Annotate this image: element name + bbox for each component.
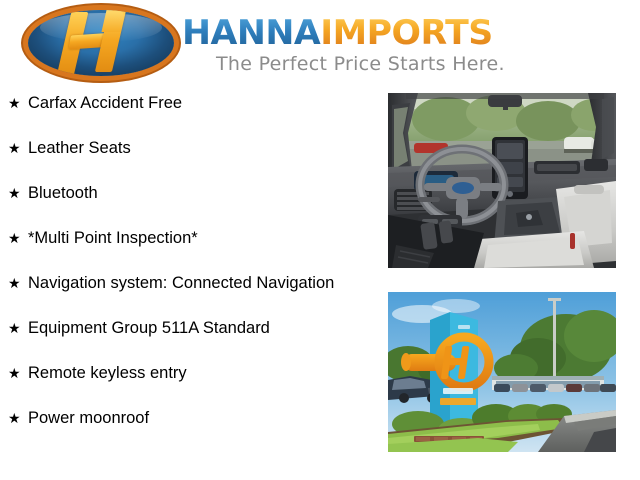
star-bullet-icon: ★	[8, 92, 28, 114]
wordmark-hanna: HANNA	[182, 13, 320, 53]
logo-oval-shape	[28, 10, 174, 76]
feature-label: *Multi Point Inspection*	[28, 227, 198, 249]
list-item: ★ *Multi Point Inspection*	[0, 227, 380, 249]
vehicle-interior-photo	[388, 93, 616, 268]
feature-label: Leather Seats	[28, 137, 131, 159]
list-item: ★ Carfax Accident Free	[0, 92, 380, 114]
list-item: ★ Remote keyless entry	[0, 362, 380, 384]
wordmark-imports: IMPORTS	[320, 13, 493, 53]
star-bullet-icon: ★	[8, 137, 28, 159]
star-bullet-icon: ★	[8, 182, 28, 204]
feature-label: Navigation system: Connected Navigation	[28, 272, 334, 294]
logo-h-hook	[101, 10, 125, 32]
star-bullet-icon: ★	[8, 407, 28, 429]
star-bullet-icon: ★	[8, 227, 28, 249]
star-bullet-icon: ★	[8, 317, 28, 339]
feature-label: Carfax Accident Free	[28, 92, 182, 114]
list-item: ★ Bluetooth	[0, 182, 380, 204]
list-item: ★ Equipment Group 511A Standard	[0, 317, 380, 339]
feature-label: Power moonroof	[28, 407, 149, 429]
list-item: ★ Leather Seats	[0, 137, 380, 159]
feature-label: Equipment Group 511A Standard	[28, 317, 270, 339]
vehicle-feature-list: ★ Carfax Accident Free ★ Leather Seats ★…	[0, 92, 380, 452]
header-banner: HANNAIMPORTS The Perfect Price Starts He…	[0, 0, 640, 86]
hanna-oval-h-logo-icon	[28, 10, 174, 76]
dealership-sign-photo	[388, 292, 616, 452]
feature-label: Remote keyless entry	[28, 362, 187, 384]
list-item: ★ Navigation system: Connected Navigatio…	[0, 272, 380, 294]
list-item: ★ Power moonroof	[0, 407, 380, 429]
brand-wordmark: HANNAIMPORTS	[182, 14, 493, 52]
brand-tagline: The Perfect Price Starts Here.	[216, 52, 505, 76]
star-bullet-icon: ★	[8, 362, 28, 384]
star-bullet-icon: ★	[8, 272, 28, 294]
feature-label: Bluetooth	[28, 182, 98, 204]
